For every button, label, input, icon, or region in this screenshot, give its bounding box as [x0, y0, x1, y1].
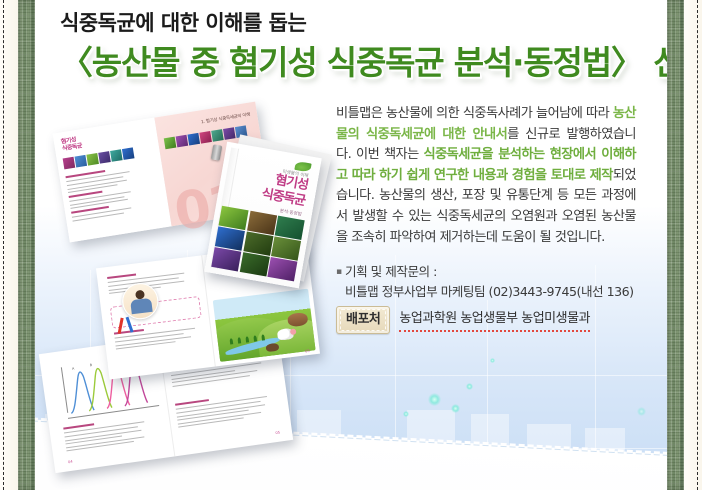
headline-title: 〈농산물 중 혐기성 식중독균 분석·동정법〉 신규 제작 [60, 40, 660, 86]
gutter-right [684, 0, 702, 490]
table-of-contents [65, 163, 158, 224]
sprout-icon [253, 335, 257, 341]
cover-title: 혐기성 식중독균 [260, 171, 309, 210]
page-text-block [175, 390, 278, 431]
bullet-icon: ▪ [336, 263, 345, 282]
chart-series-label: A [72, 367, 75, 371]
body-copy: 비틀맵은 농산물에 의한 식중독사례가 늘어남에 따라 농산물의 식중독세균에 … [336, 104, 636, 248]
distribution-badge: 배포처 [336, 306, 390, 334]
spread-left-page: 혐기성식중독균 [53, 118, 172, 243]
distribution-value: 농업과학원 농업생물부 농업미생물과 [399, 309, 590, 332]
page-number: 04 [68, 460, 73, 465]
crop-mark-left [3, 0, 4, 490]
spread-chapter-title: 1. 혐기성 식중독세균의 이해 [201, 112, 251, 126]
cover-micrograph-grid [211, 206, 304, 282]
poster-root: A B C D 04 [0, 0, 702, 490]
page-number: 05 [275, 430, 280, 435]
sprout-icon [245, 336, 249, 342]
border-band-left [18, 0, 35, 490]
sprout-icon [230, 338, 234, 344]
crop-mark-right [697, 0, 698, 490]
distribution-row: 배포처 농업과학원 농업생물부 농업미생물과 [336, 306, 666, 334]
person-body-icon [130, 298, 153, 314]
border-band-right [667, 0, 684, 490]
headline-block: 식중독균에 대한 이해를 돕는 〈농산물 중 혐기성 식중독균 분석·동정법〉 … [60, 8, 660, 86]
contact-block: ▪기획 및 제작문의 : 비틀맵 정부사업부 마케팅팀 (02)3443-974… [336, 262, 666, 334]
page-number: 03 [305, 349, 310, 354]
contact-label: 기획 및 제작문의 : [345, 264, 437, 279]
booklet-collage: A B C D 04 [40, 105, 340, 445]
body-copy-seg1: 비틀맵은 농산물에 의한 식중독사례가 늘어남에 따라 [336, 106, 613, 121]
chart-series-label: B [90, 363, 93, 367]
sprout-icon [237, 337, 241, 343]
farm-illustration [213, 289, 316, 362]
headline-subtitle: 식중독균에 대한 이해를 돕는 [60, 8, 660, 38]
contact-detail: 비틀맵 정부사업부 마케팅팀 (02)3443-9745(내선 136) [345, 282, 666, 301]
sprout-icon [261, 334, 265, 340]
contact-label-row: ▪기획 및 제작문의 : [336, 262, 666, 282]
